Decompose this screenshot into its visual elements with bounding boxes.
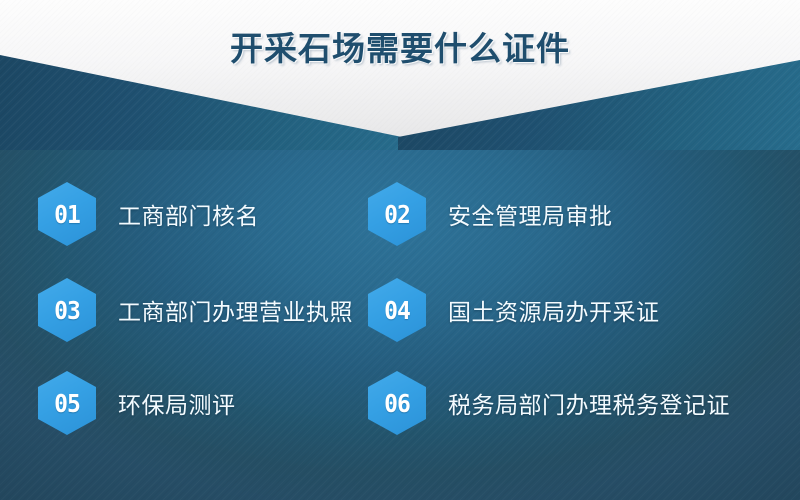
step-number: 06 [370,371,423,435]
step-badge: 05 [38,371,96,435]
step-label: 工商部门办理营业执照 [118,293,353,327]
step-badge: 04 [368,278,426,342]
steps-row: 05 环保局测评 06 税务局部门办理税务登记证 [0,370,800,436]
step-badge: 01 [38,182,96,246]
step-number: 03 [40,278,93,342]
step-label: 国土资源局办开采证 [448,293,660,327]
steps-row: 03 工商部门办理营业执照 04 国土资源局办开采证 [0,277,800,343]
list-item[interactable]: 02 安全管理局审批 [362,181,800,247]
step-label: 安全管理局审批 [448,197,613,231]
step-badge: 06 [368,371,426,435]
list-item[interactable]: 05 环保局测评 [0,370,362,436]
steps-row: 01 工商部门核名 02 安全管理局审批 [0,181,800,247]
step-number: 05 [40,371,93,435]
step-label: 环保局测评 [118,386,236,420]
list-item[interactable]: 01 工商部门核名 [0,181,362,247]
infographic-poster: 开采石场需要什么证件 01 工商部门核名 02 安全管理局审批 [0,0,800,500]
list-item[interactable]: 04 国土资源局办开采证 [362,277,800,343]
steps-list: 01 工商部门核名 02 安全管理局审批 03 工商部门办理营业执照 [0,150,800,500]
step-number: 01 [40,182,93,246]
step-number: 04 [370,278,423,342]
step-badge: 02 [368,182,426,246]
step-label: 税务局部门办理税务登记证 [448,386,730,420]
list-item[interactable]: 03 工商部门办理营业执照 [0,277,362,343]
page-title: 开采石场需要什么证件 [0,22,800,70]
step-number: 02 [370,182,423,246]
step-badge: 03 [38,278,96,342]
step-label: 工商部门核名 [118,197,259,231]
header-banner: 开采石场需要什么证件 [0,0,800,150]
list-item[interactable]: 06 税务局部门办理税务登记证 [362,370,800,436]
